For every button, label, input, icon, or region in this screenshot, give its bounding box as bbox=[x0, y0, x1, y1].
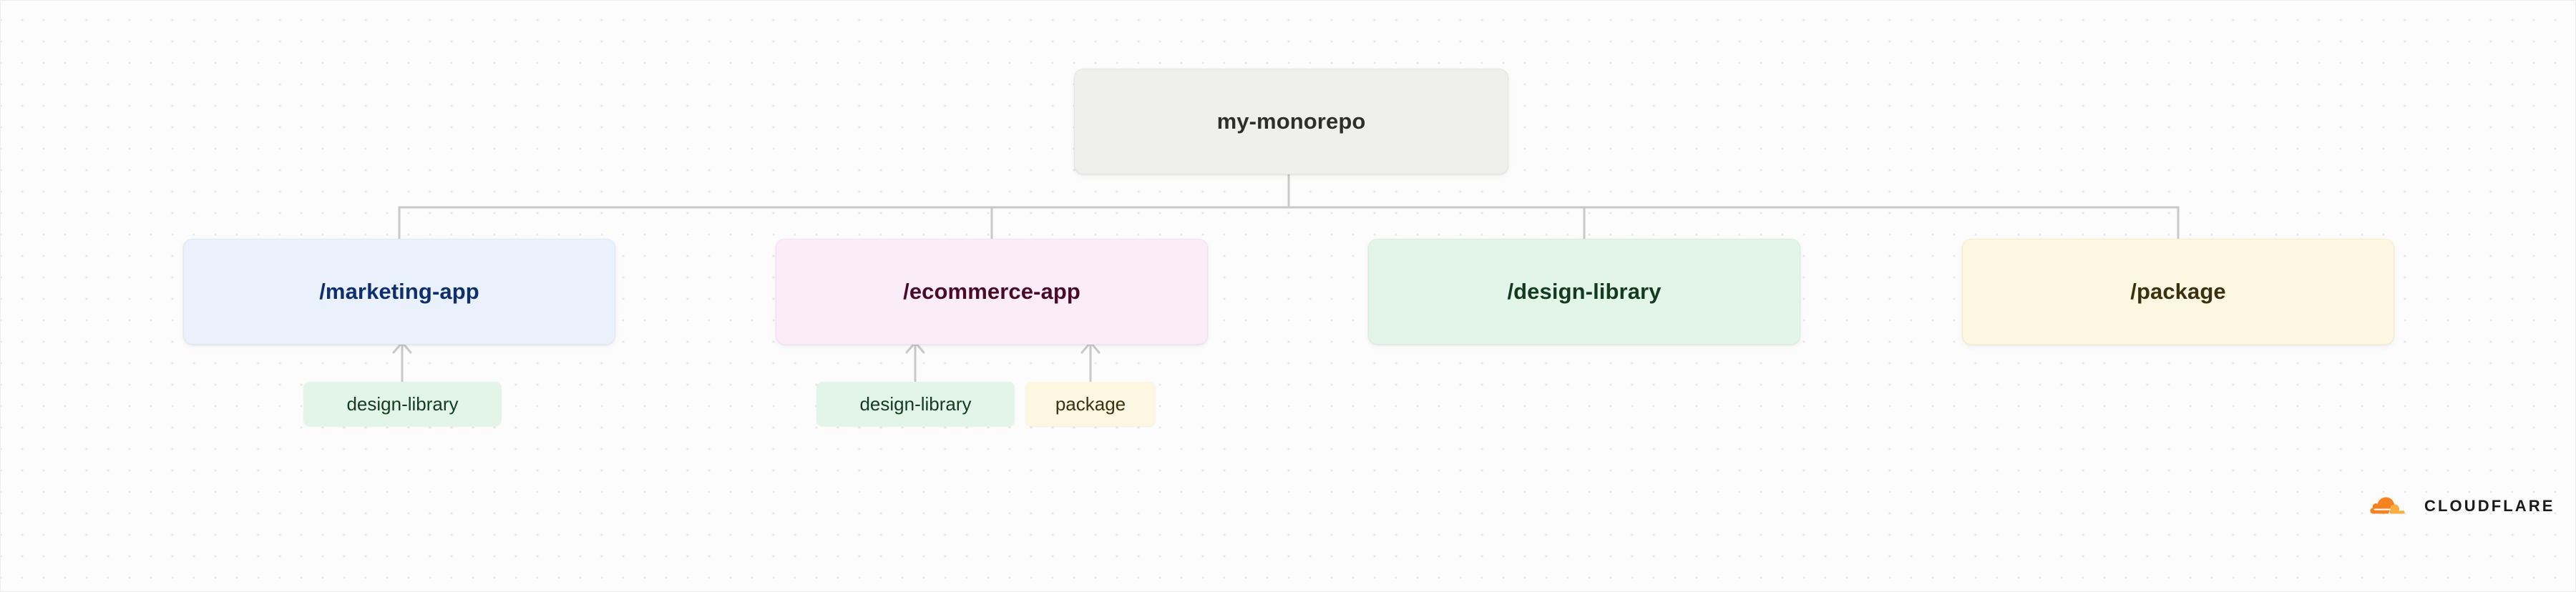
node-label: /design-library bbox=[1507, 279, 1661, 305]
chip-marketing-dep-design-library[interactable]: design-library bbox=[303, 382, 502, 426]
node-label: /marketing-app bbox=[319, 279, 479, 305]
node-design-library[interactable]: /design-library bbox=[1368, 239, 1800, 345]
node-label: /ecommerce-app bbox=[903, 279, 1080, 305]
node-package[interactable]: /package bbox=[1962, 239, 2394, 345]
node-marketing-app[interactable]: /marketing-app bbox=[183, 239, 615, 345]
chip-label: design-library bbox=[346, 393, 458, 415]
chip-ecommerce-dep-design-library[interactable]: design-library bbox=[816, 382, 1015, 426]
cloudflare-logo-icon bbox=[2366, 494, 2417, 518]
node-label: my-monorepo bbox=[1217, 109, 1366, 134]
chip-ecommerce-dep-package[interactable]: package bbox=[1025, 382, 1156, 426]
diagram-canvas: my-monorepo /marketing-app /ecommerce-ap… bbox=[0, 0, 2576, 592]
chip-label: design-library bbox=[859, 393, 971, 415]
node-my-monorepo[interactable]: my-monorepo bbox=[1074, 69, 1508, 174]
node-ecommerce-app[interactable]: /ecommerce-app bbox=[776, 239, 1208, 345]
node-label: /package bbox=[2130, 279, 2226, 305]
cloudflare-branding: CLOUDFLARE bbox=[2366, 494, 2555, 518]
cloudflare-wordmark: CLOUDFLARE bbox=[2424, 497, 2555, 515]
chip-label: package bbox=[1055, 393, 1126, 415]
